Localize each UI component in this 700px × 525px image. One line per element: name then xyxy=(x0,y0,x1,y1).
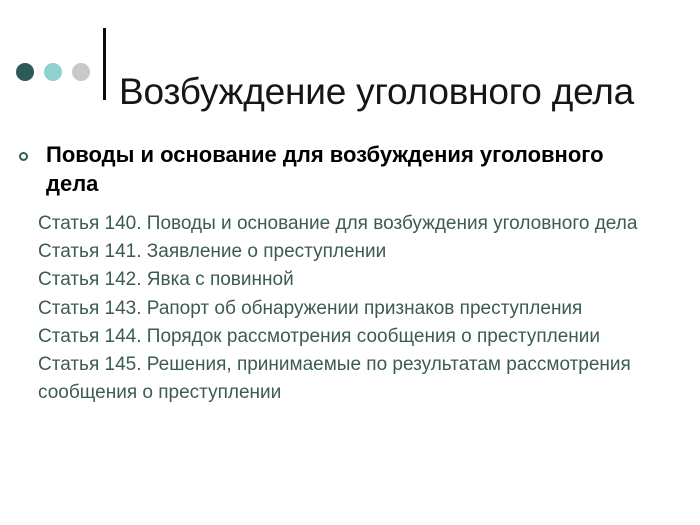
list-item: Статья 142. Явка с повинной xyxy=(38,266,652,294)
dot-dark-teal-icon xyxy=(16,63,34,81)
list-item: Статья 141. Заявление о преступлении xyxy=(38,238,652,266)
slide-header: Возбуждение уголовного дела xyxy=(0,0,700,118)
dot-aqua-icon xyxy=(44,63,62,81)
slide-title: Возбуждение уголовного дела xyxy=(119,69,634,115)
decorative-dot-group xyxy=(16,63,90,81)
dot-gray-icon xyxy=(72,63,90,81)
slide-body: Поводы и основание для возбуждения уголо… xyxy=(0,140,700,407)
presentation-slide: Возбуждение уголовного дела Поводы и осн… xyxy=(0,0,700,525)
article-list: Статья 140. Поводы и основание для возбу… xyxy=(0,210,700,407)
bullet-heading-text: Поводы и основание для возбуждения уголо… xyxy=(46,140,646,198)
list-item: Статья 144. Порядок рассмотрения сообщен… xyxy=(38,323,652,351)
list-item: Статья 140. Поводы и основание для возбу… xyxy=(38,210,652,238)
header-vertical-rule xyxy=(103,28,106,100)
ring-bullet-icon xyxy=(19,152,28,161)
list-item: Статья 145. Решения, принимаемые по резу… xyxy=(38,351,652,407)
list-item: Статья 143. Рапорт об обнаружении призна… xyxy=(38,295,652,323)
bullet-heading-block: Поводы и основание для возбуждения уголо… xyxy=(0,140,700,198)
